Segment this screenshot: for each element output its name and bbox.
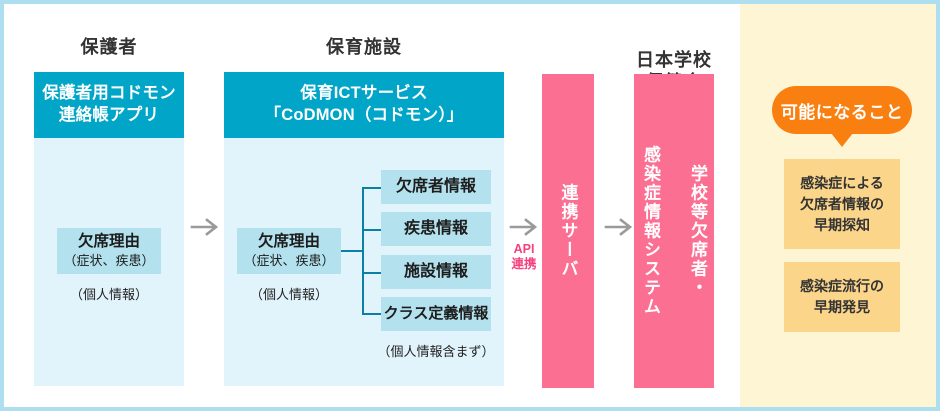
facility-branch-caption: （個人情報含まず）: [371, 341, 501, 360]
tree-branch-3: [362, 272, 382, 274]
facility-codmon-header-label: 保育ICTサービス 「CoDMON（コドモン）」: [265, 83, 464, 127]
guardian-personal-info-caption: （個人情報）: [34, 284, 184, 303]
api-link-label-line1: API: [502, 242, 546, 257]
benefits-callout: 可能になること: [772, 86, 912, 134]
arrow-guardian-to-facility: [190, 216, 220, 238]
facility-branch-label-3: 施設情報: [404, 262, 468, 281]
guardian-app-header: 保護者用コドモン 連絡帳アプリ: [34, 72, 184, 138]
benefit-box-2-label: 感染症流行の 早期発見: [800, 276, 884, 318]
guardian-app-header-label: 保護者用コドモン 連絡帳アプリ: [42, 83, 176, 127]
facility-absence-reason-line1: 欠席理由: [258, 233, 320, 252]
benefit-box-1-label: 感染症による 欠席者情報の 早期探知: [800, 173, 884, 236]
benefit-box-2: 感染症流行の 早期発見: [784, 262, 900, 332]
tree-branch-1: [362, 187, 382, 189]
facility-personal-info-caption: （個人情報）: [237, 284, 341, 303]
hokenkai-system-label-right: 学校等欠席者・: [689, 165, 706, 298]
link-server-column: 連携サーバ: [542, 74, 594, 388]
facility-branch-label-1: 欠席者情報: [396, 177, 476, 196]
diagram-canvas: 保護者 保護者用コドモン 連絡帳アプリ 欠席理由 （症状、疾患） （個人情報） …: [0, 0, 940, 411]
arrow-facility-to-server: [509, 216, 539, 238]
tree-stem-horizontal: [341, 250, 363, 252]
facility-branch-caption-label: （個人情報含まず）: [377, 344, 494, 359]
facility-branch-chip-2: 疾患情報: [381, 212, 491, 246]
facility-codmon-header: 保育ICTサービス 「CoDMON（コドモン）」: [224, 72, 504, 138]
guardian-absence-reason-line1: 欠席理由: [78, 233, 140, 252]
tree-spine-vertical: [362, 187, 364, 314]
hokenkai-system-column: 学校等欠席者・ 感染症情報システム: [634, 74, 714, 388]
facility-branch-chip-4: クラス定義情報: [381, 297, 491, 331]
api-link-label: API 連携: [502, 242, 546, 272]
facility-branch-label-2: 疾患情報: [404, 219, 468, 238]
hokenkai-system-label-left: 感染症情報システム: [642, 146, 659, 317]
benefit-box-1: 感染症による 欠席者情報の 早期探知: [784, 159, 900, 249]
facility-personal-info-caption-label: （個人情報）: [250, 287, 328, 302]
column-heading-guardian-label: 保護者: [81, 37, 138, 57]
facility-branch-chip-3: 施設情報: [381, 255, 491, 289]
guardian-absence-reason-line2: （症状、疾患）: [63, 253, 154, 269]
column-heading-facility-label: 保育施設: [326, 37, 402, 57]
link-server-label: 連携サーバ: [560, 184, 577, 279]
facility-branch-label-4: クラス定義情報: [384, 305, 489, 323]
benefits-callout-tail-icon: [831, 133, 853, 147]
guardian-absence-reason-chip: 欠席理由 （症状、疾患）: [57, 228, 161, 274]
facility-branch-chip-1: 欠席者情報: [381, 170, 491, 204]
tree-branch-4: [362, 313, 382, 315]
api-link-label-line2: 連携: [502, 257, 546, 272]
facility-absence-reason-line2: （症状、疾患）: [243, 253, 334, 269]
benefits-callout-label: 可能になること: [781, 98, 904, 123]
facility-absence-reason-chip: 欠席理由 （症状、疾患）: [237, 228, 341, 274]
tree-branch-2: [362, 229, 382, 231]
column-heading-guardian: 保護者: [34, 36, 184, 59]
guardian-personal-info-caption-label: （個人情報）: [70, 287, 148, 302]
arrow-server-to-system: [604, 216, 634, 238]
column-heading-facility: 保育施設: [224, 36, 504, 59]
